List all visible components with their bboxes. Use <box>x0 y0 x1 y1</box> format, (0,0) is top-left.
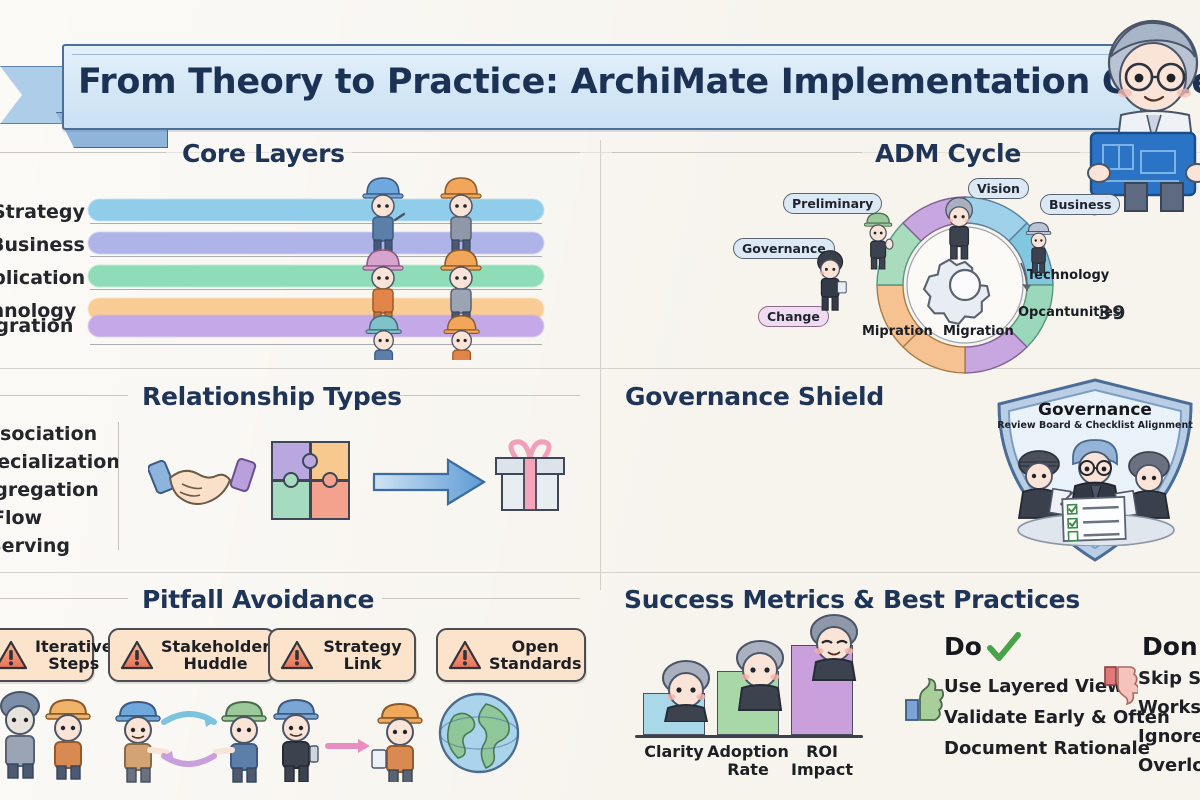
vertical-divider <box>600 140 601 590</box>
pitfall-illustration-iterative <box>0 690 106 780</box>
warning-triangle-icon <box>448 640 482 671</box>
section-title-core-layers: Core Layers <box>182 139 345 168</box>
layer-workers-illustration <box>355 160 555 360</box>
dont-item-2: Workshops <box>1138 697 1200 718</box>
section-title-pitfall-avoidance: Pitfall Avoidance <box>142 585 374 614</box>
handshake-icon <box>148 440 258 520</box>
relationship-label-flow: Flow <box>0 507 42 529</box>
warning-triangle-icon <box>120 640 154 671</box>
relationship-list-divider <box>118 422 119 550</box>
pitfall-card-3[interactable]: StrategyLink <box>268 628 416 682</box>
pitfall-card-1[interactable]: IterativeSteps <box>0 628 94 682</box>
relationship-label-aggregation: Aggregation <box>0 479 99 501</box>
metric-label-roi-impact: ROIImpact <box>781 743 863 778</box>
section-title-adm-cycle: ADM Cycle <box>875 139 1021 168</box>
puzzle-pieces-icon <box>268 438 353 523</box>
infographic-page: From Theory to Practice: ArchiMate Imple… <box>0 0 1200 800</box>
warning-triangle-icon <box>0 640 28 671</box>
dont-heading: Don't <box>1142 632 1200 661</box>
metric-figures <box>640 612 890 722</box>
dont-item-3: Ignore Migration <box>1138 726 1200 747</box>
adm-rule-right <box>1020 152 1080 153</box>
core-layers-rule-left <box>0 152 166 153</box>
warning-triangle-icon <box>280 640 314 671</box>
thumbs-down-icon <box>1104 666 1138 706</box>
rel-rule-left <box>0 395 128 396</box>
banner-inner-rule <box>72 54 1130 55</box>
governance-shield-badge: Governance Review Board & Checklist Alig… <box>995 378 1195 563</box>
wheel-label-migration: Migration <box>943 324 1014 339</box>
metric-label-adoption-rate: AdoptionRate <box>707 743 789 778</box>
pitfall-card-label: StrategyLink <box>321 638 404 673</box>
layer-label-application: Application <box>0 267 85 289</box>
section-title-relationship-types: Relationship Types <box>142 382 402 411</box>
dont-item-1: Skip Stakeholder <box>1138 668 1200 689</box>
page-title: From Theory to Practice: ArchiMate Imple… <box>78 62 1138 102</box>
pitfall-card-label: StakeholderHuddle <box>161 638 270 673</box>
do-heading: Do <box>944 632 982 661</box>
review-board-illustration <box>1003 436 1189 546</box>
metric-label-clarity: Clarity <box>633 743 715 761</box>
pitfall-card-2[interactable]: StakeholderHuddle <box>108 628 276 682</box>
pitfall-card-4[interactable]: OpenStandards <box>436 628 586 682</box>
section-title-success-metrics: Success Metrics & Best Practices <box>624 585 1080 614</box>
relationship-label-association: Association <box>0 423 97 445</box>
section-title-governance-shield: Governance Shield <box>625 382 884 411</box>
core-layers-rule-right <box>352 152 580 153</box>
architect-character-icon <box>1085 5 1200 215</box>
pitfall-card-label: IterativeSteps <box>35 638 113 673</box>
layer-label-migration: Migration <box>0 315 73 337</box>
globe-icon <box>436 690 522 776</box>
rel-rule-right <box>394 395 580 396</box>
layer-label-strategy: Strategy <box>0 201 85 223</box>
pitfall-illustration-strategy <box>266 690 436 782</box>
relationship-label-specialization: Specialization <box>0 451 120 473</box>
do-item-2: Validate Early & Often <box>944 707 1170 728</box>
title-banner: From Theory to Practice: ArchiMate Imple… <box>0 18 1200 130</box>
green-check-icon <box>986 632 1022 664</box>
pitfall-rule-right <box>382 598 580 599</box>
relationship-label-serving: Serving <box>0 535 70 557</box>
pitfall-illustration-stakeholder <box>108 688 288 783</box>
gift-box-icon <box>490 438 570 518</box>
adm-rule-left <box>612 152 862 153</box>
pitfall-card-label: OpenStandards <box>489 638 581 673</box>
shield-title: Governance <box>995 400 1195 420</box>
shield-subtitle: Review Board & Checklist Alignment <box>995 420 1195 431</box>
arrow-right-icon <box>370 452 490 512</box>
wheel-label-implementation: Mipration <box>862 324 933 339</box>
adm-figures <box>800 185 1120 315</box>
do-item-3: Document Rationale <box>944 738 1150 759</box>
horizontal-divider-2 <box>0 572 1200 573</box>
layer-label-business: Business <box>0 234 85 256</box>
dont-item-4: Overload Diagrams <box>1138 755 1200 776</box>
thumbs-up-icon <box>904 678 944 722</box>
pitfall-rule-left <box>0 598 128 599</box>
bar-chart-axis <box>635 735 863 738</box>
